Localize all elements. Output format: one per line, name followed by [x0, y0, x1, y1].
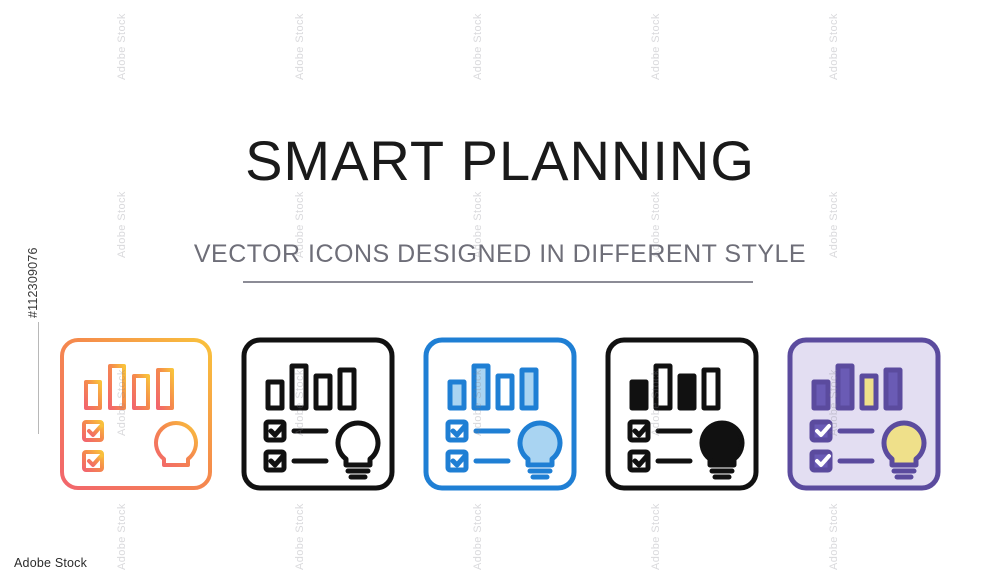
watermark-tile: Adobe Stock	[650, 13, 662, 80]
poster-canvas: SMART PLANNING VECTOR ICONS DESIGNED IN …	[0, 0, 1000, 572]
watermark-tile: Adobe Stock	[650, 503, 662, 570]
brand-label: Adobe Stock	[14, 556, 87, 570]
page-subtitle: VECTOR ICONS DESIGNED IN DIFFERENT STYLE	[0, 240, 1000, 269]
icon-smart-planning-purple-filled	[786, 336, 942, 492]
icon-smart-planning-solid-black	[604, 336, 760, 492]
page-title: SMART PLANNING	[0, 128, 1000, 193]
watermark-tile: Adobe Stock	[472, 503, 484, 570]
watermark-tile: Adobe Stock	[116, 13, 128, 80]
icon-row	[0, 336, 1000, 496]
asset-id-label: #112309076	[26, 247, 40, 318]
icon-smart-planning-blue-duotone	[422, 336, 578, 492]
watermark-tile: Adobe Stock	[116, 503, 128, 570]
watermark-tile: Adobe Stock	[294, 503, 306, 570]
watermark-tile: Adobe Stock	[472, 13, 484, 80]
icon-smart-planning-line	[240, 336, 396, 492]
watermark-tile: Adobe Stock	[294, 13, 306, 80]
icon-smart-planning-gradient	[58, 336, 214, 492]
watermark-tile: Adobe Stock	[828, 503, 840, 570]
watermark-tile: Adobe Stock	[828, 13, 840, 80]
sidebar-divider	[38, 322, 39, 434]
title-divider	[243, 281, 753, 283]
